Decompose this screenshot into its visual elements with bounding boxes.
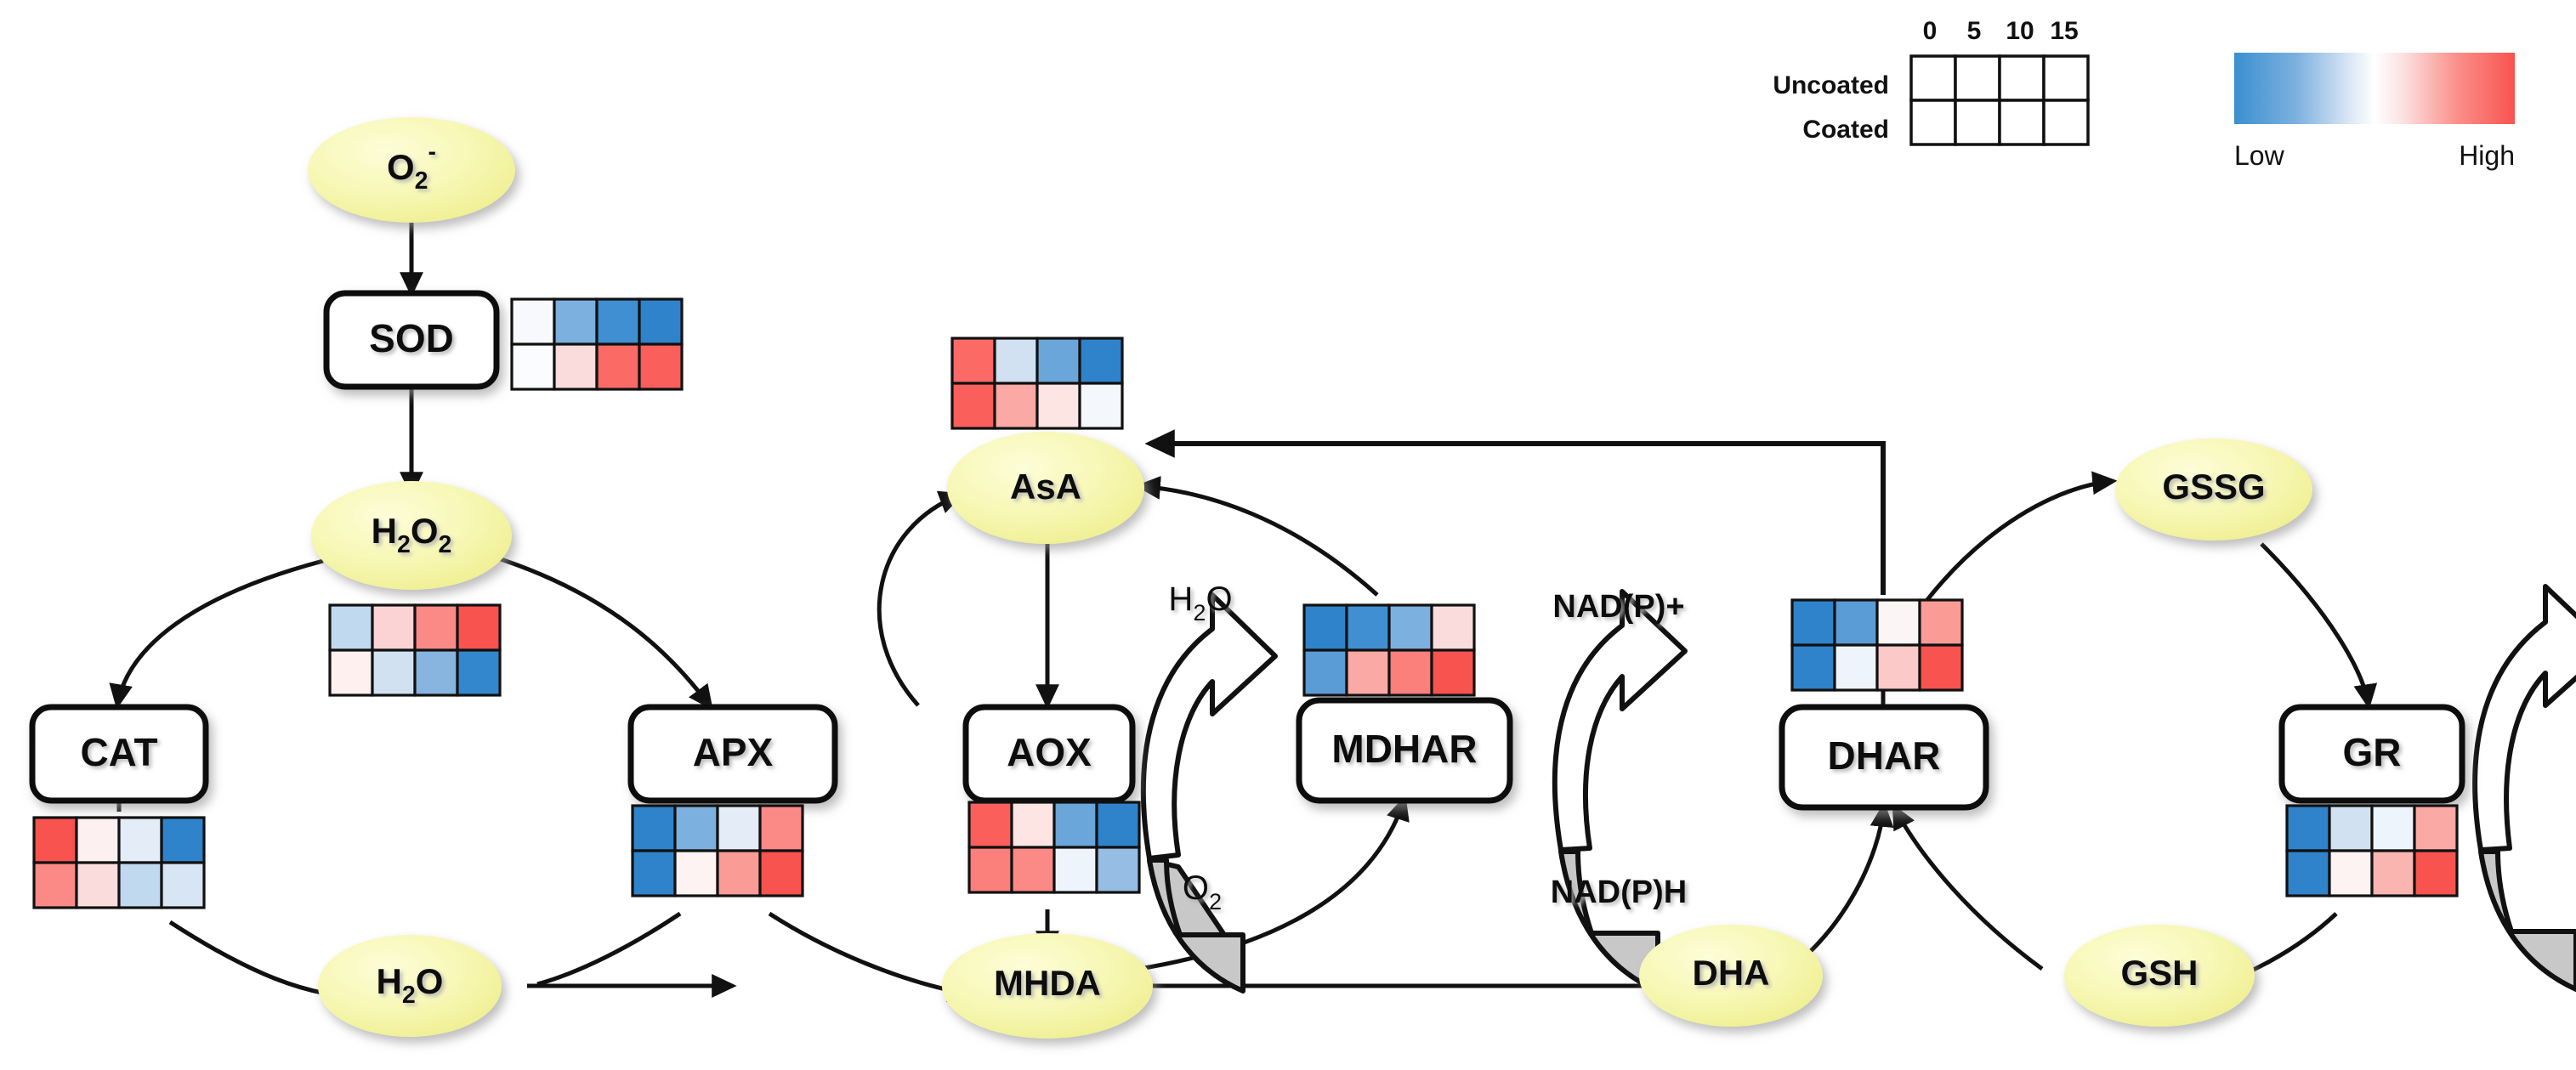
heatmap-asa (952, 338, 1122, 428)
legend-key-cell (2000, 56, 2044, 100)
heatmap-aox (969, 802, 1139, 892)
edge-gsh-to-dhar (1894, 807, 2042, 969)
heatmap-cell (554, 344, 597, 389)
heatmap-cell (1835, 600, 1877, 645)
heatmap-cell (969, 847, 1012, 892)
heatmap-cell (1432, 605, 1474, 650)
heatmap-cell (1835, 645, 1877, 690)
heatmap-cell (34, 863, 77, 908)
gr-bow-arc-icon (2481, 852, 2576, 989)
legend-key-cell (2044, 100, 2088, 144)
enzyme-apx[interactable]: APX (631, 707, 835, 801)
heatmap-cell (1920, 600, 1962, 645)
metabolite-dha-label: DHA (1693, 953, 1770, 993)
heatmap-cell (2287, 806, 2329, 851)
heatmap-cell (512, 344, 554, 389)
heatmap-cell (2372, 806, 2414, 851)
enzyme-gr-label: GR (2343, 730, 2402, 774)
gr-bow-arrow-icon (2475, 586, 2576, 850)
heatmap-cell (1920, 645, 1962, 690)
heatmap-cell (1012, 847, 1054, 892)
metabolite-gsh[interactable]: GSH (2064, 925, 2255, 1027)
heatmap-h2o2 (330, 605, 500, 695)
heatmap-layer (34, 299, 2457, 908)
heatmap-cell (1389, 650, 1432, 695)
edge-apx-to-asa (879, 495, 961, 705)
bow-arrow-aox (1143, 595, 1275, 991)
heatmap-cell (34, 818, 77, 863)
enzyme-dhar[interactable]: DHAR (1782, 707, 1986, 807)
enzyme-dhar-label: DHAR (1828, 733, 1941, 778)
legend-key-cell (1911, 100, 1955, 144)
legend-row-uncoated: Uncoated (1773, 71, 1889, 99)
enzyme-cat[interactable]: CAT (32, 707, 206, 801)
metabolite-h2o2[interactable]: H2O2 (311, 481, 512, 590)
metabolite-mhda[interactable]: MHDA (942, 933, 1153, 1039)
legend-colorbar: Low High (2234, 53, 2515, 171)
enzyme-apx-label: APX (693, 730, 774, 774)
legend-row-coated: Coated (1802, 116, 1889, 144)
heatmap-cell (718, 851, 760, 896)
heatmap-cell (1097, 802, 1139, 847)
heatmap-cell (457, 650, 500, 695)
heatmap-cell (995, 338, 1037, 383)
enzyme-sod[interactable]: SOD (326, 293, 496, 387)
edge-h2o2-to-apx (493, 557, 711, 707)
heatmap-cell (1080, 338, 1122, 383)
heatmap-cell (372, 650, 415, 695)
heatmap-cell (1432, 650, 1474, 695)
edge-mdhar-to-asa (1139, 486, 1377, 595)
heatmap-cell (1097, 847, 1139, 892)
heatmap-gr (2287, 806, 2457, 896)
heatmap-cell (969, 802, 1012, 847)
heatmap-cell (1304, 605, 1347, 650)
enzyme-mdhar-label: MDHAR (1331, 727, 1477, 771)
heatmap-cell (1304, 650, 1347, 695)
heatmap-cell (2287, 851, 2329, 896)
heatmap-cell (119, 818, 162, 863)
heatmap-cell (597, 299, 639, 344)
heatmap-cell (675, 851, 718, 896)
heatmap-cell (633, 851, 675, 896)
heatmap-cell (77, 818, 119, 863)
heatmap-cell (952, 338, 995, 383)
heatmap-cell (633, 806, 675, 851)
colorbar-low-label: Low (2234, 140, 2285, 171)
heatmap-cell (1389, 605, 1432, 650)
metabolite-o2-radical[interactable]: O2- (308, 117, 515, 223)
legend-col-2: 10 (2006, 17, 2034, 45)
heatmap-cell (639, 344, 682, 389)
metabolite-dha[interactable]: DHA (1639, 925, 1823, 1027)
enzyme-gr[interactable]: GR (2282, 707, 2462, 801)
heatmap-cell (1037, 338, 1080, 383)
heatmap-sod (512, 299, 682, 389)
heatmap-cell (512, 299, 554, 344)
legend-key-cell (2044, 56, 2088, 100)
edge-h2o2-to-cat (117, 561, 323, 705)
heatmap-cell (330, 605, 372, 650)
h2o-bow-arrow-icon (1143, 595, 1275, 858)
heatmap-cell (1792, 645, 1835, 690)
heatmap-dhar (1792, 600, 1962, 690)
colorbar-gradient (2234, 53, 2515, 124)
legend-key-cell (1911, 56, 1955, 100)
enzyme-mdhar[interactable]: MDHAR (1299, 700, 1510, 801)
legend-col-0: 0 (1923, 17, 1938, 45)
enzyme-aox-label: AOX (1007, 730, 1092, 774)
metabolite-asa-label: AsA (1010, 467, 1081, 507)
heatmap-cell (2414, 851, 2457, 896)
heatmap-cell (1877, 645, 1920, 690)
edge-apx-to-mhda (769, 914, 969, 994)
heatmap-cell (952, 383, 995, 428)
metabolite-h2o[interactable]: H2O (318, 935, 502, 1037)
heatmap-cell (554, 299, 597, 344)
edge-dha-to-dhar (1790, 806, 1884, 969)
heatmap-cell (1347, 650, 1389, 695)
heatmap-cell (2414, 806, 2457, 851)
legend-grid: 0 5 10 15 Uncoated Coated (1773, 17, 2088, 144)
heatmap-cell (162, 818, 204, 863)
heatmap-cell (1877, 600, 1920, 645)
heatmap-cell (119, 863, 162, 908)
legend-col-3: 15 (2050, 17, 2078, 45)
bow-arrow-mdhar (1555, 592, 1685, 991)
heatmap-mdhar (1304, 605, 1474, 695)
legend-key-cell (1955, 56, 2000, 100)
heatmap-cell (415, 650, 457, 695)
heatmap-cell (77, 863, 119, 908)
heatmap-cell (1012, 802, 1054, 847)
pathway-diagram: SOD CAT APX AOX MDHAR DHAR GR O2- H2O2 H… (0, 0, 2576, 1070)
heatmap-cell (597, 344, 639, 389)
cofactor-nadp-plus-label: NAD(P)+ (1552, 589, 1684, 625)
heatmap-cell (760, 806, 803, 851)
metabolite-mhda-label: MHDA (994, 963, 1101, 1003)
heatmap-cat (34, 818, 204, 908)
heatmap-cell (675, 806, 718, 851)
heatmap-apx (633, 806, 803, 896)
enzyme-cat-label: CAT (80, 730, 157, 774)
cofactor-nadp-h-label: NAD(P)H (1551, 875, 1687, 910)
metabolite-gssg-label: GSSG (2162, 467, 2265, 507)
heatmap-cell (415, 605, 457, 650)
heatmap-cell (1080, 383, 1122, 428)
legend-col-1: 5 (1967, 17, 1982, 45)
heatmap-cell (995, 383, 1037, 428)
heatmap-cell (1347, 605, 1389, 650)
heatmap-cell (2329, 806, 2372, 851)
edge-dhar-to-gssg (1918, 481, 2114, 612)
heatmap-cell (457, 605, 500, 650)
bow-arrow-gr (2475, 586, 2576, 989)
heatmap-cell (2329, 851, 2372, 896)
heatmap-cell (1792, 600, 1835, 645)
heatmap-cell (330, 650, 372, 695)
heatmap-cell (1054, 802, 1097, 847)
enzyme-sod-label: SOD (369, 316, 454, 360)
figure-canvas: SOD CAT APX AOX MDHAR DHAR GR O2- H2O2 H… (0, 0, 2576, 1070)
legend-cells (1911, 56, 2088, 144)
heatmap-cell (2372, 851, 2414, 896)
heatmap-cell (760, 851, 803, 896)
legend-key-cell (2000, 100, 2044, 144)
heatmap-cell (639, 299, 682, 344)
edge-apx-left-down (537, 914, 680, 984)
edge-gssg-to-gr (2261, 544, 2369, 705)
heatmap-cell (162, 863, 204, 908)
heatmap-cell (372, 605, 415, 650)
heatmap-cell (1037, 383, 1080, 428)
colorbar-high-label: High (2459, 140, 2515, 171)
metabolite-gsh-label: GSH (2120, 953, 2198, 993)
legend-key-cell (1955, 100, 2000, 144)
enzyme-aox[interactable]: AOX (966, 707, 1132, 801)
nadp-plus-bow-arrow-icon (1555, 592, 1685, 850)
metabolite-gssg[interactable]: GSSG (2115, 439, 2312, 541)
metabolite-asa[interactable]: AsA (947, 432, 1144, 544)
heatmap-cell (1054, 847, 1097, 892)
heatmap-cell (718, 806, 760, 851)
